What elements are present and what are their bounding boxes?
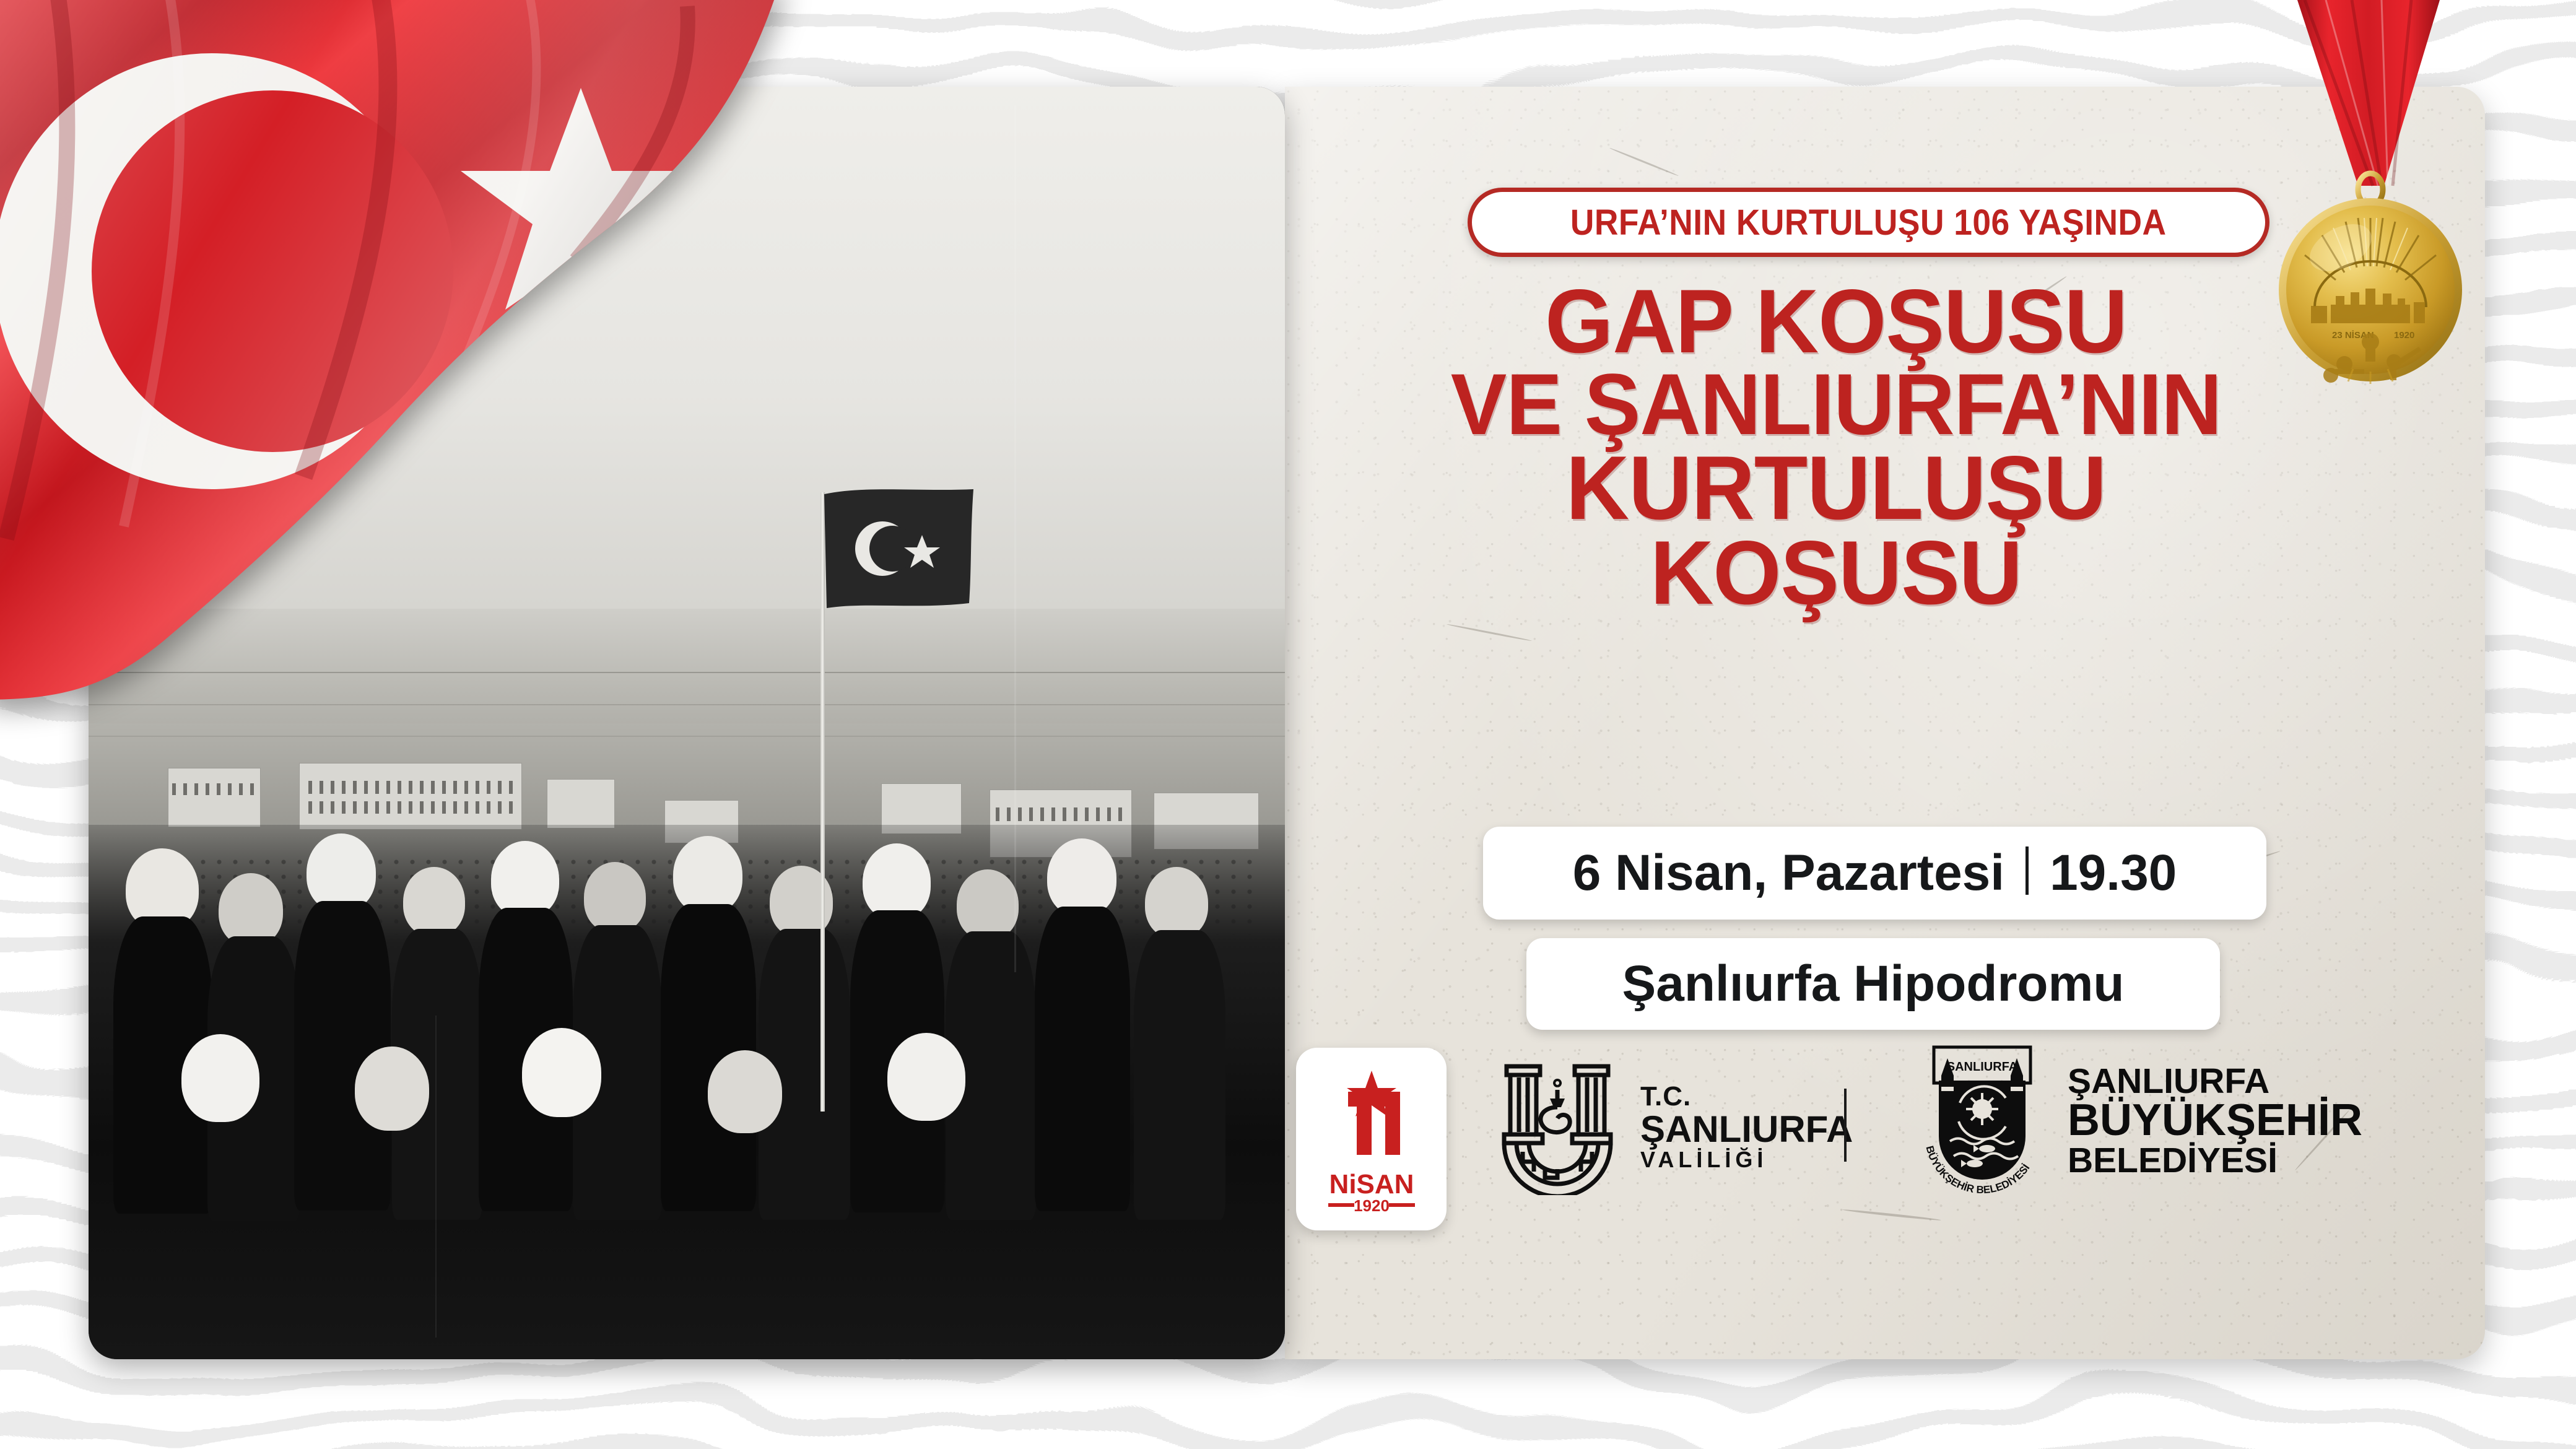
logo-divider	[1844, 1089, 1847, 1162]
headline-line-1: GAP KOŞUSU	[1326, 279, 2347, 363]
headline-line-4: KOŞUSU	[1326, 530, 2347, 615]
date-time-separator	[2026, 846, 2029, 895]
page-title: GAP KOŞUSU VE ŞANLIURFA’NIN KURTULUŞU KO…	[1310, 279, 2362, 615]
event-venue-pill: Şanlıurfa Hipodromu	[1526, 938, 2220, 1030]
sanliurfa-municipality-crest-icon: ŞANLIURFA	[1915, 1043, 2049, 1198]
headline-line-2: VE ŞANLIURFA’NIN	[1326, 363, 2347, 445]
valilik-logo: T.C. ŞANLIURFA VALİLİĞİ	[1495, 1059, 1853, 1195]
belediye-line-1: ŞANLIURFA	[2068, 1064, 2362, 1099]
event-time-label: 19.30	[2050, 844, 2177, 902]
turkish-flag-drape	[0, 0, 848, 700]
svg-text:NiSAN: NiSAN	[1329, 1169, 1414, 1199]
anniversary-badge: URFA’NIN KURTULUŞU 106 YAŞINDA	[1468, 188, 2269, 257]
valilik-line-2: ŞANLIURFA	[1640, 1110, 1853, 1148]
belediye-logo: ŞANLIURFA	[1915, 1043, 2362, 1198]
belediye-line-3: BELEDİYESİ	[2068, 1143, 2362, 1178]
event-venue-label: Şanlıurfa Hipodromu	[1622, 955, 2125, 1013]
anniversary-badge-label: URFA’NIN KURTULUŞU 106 YAŞINDA	[1570, 202, 2167, 243]
crescent-star-eleven-icon: NiSAN 1920	[1310, 1062, 1434, 1217]
event-date-label: 6 Nisan, Pazartesi	[1573, 844, 2004, 902]
svg-text:1920: 1920	[1354, 1196, 1390, 1215]
gold-medal-icon: 23 NİSAN 1920	[2266, 0, 2471, 433]
gobeklitepe-columns-icon	[1495, 1059, 1619, 1195]
headline-line-3: KURTULUŞU	[1326, 445, 2347, 530]
svg-text:1920: 1920	[2394, 330, 2414, 341]
valilik-line-1: T.C.	[1640, 1083, 1853, 1111]
crest-label: ŞANLIURFA	[1947, 1060, 2017, 1074]
valilik-line-3: VALİLİĞİ	[1640, 1149, 1853, 1172]
belediye-line-2: BÜYÜKŞEHİR	[2068, 1099, 2362, 1142]
event-date-pill: 6 Nisan, Pazartesi 19.30	[1483, 827, 2266, 920]
nisan-1920-badge: NiSAN 1920	[1296, 1048, 1447, 1230]
